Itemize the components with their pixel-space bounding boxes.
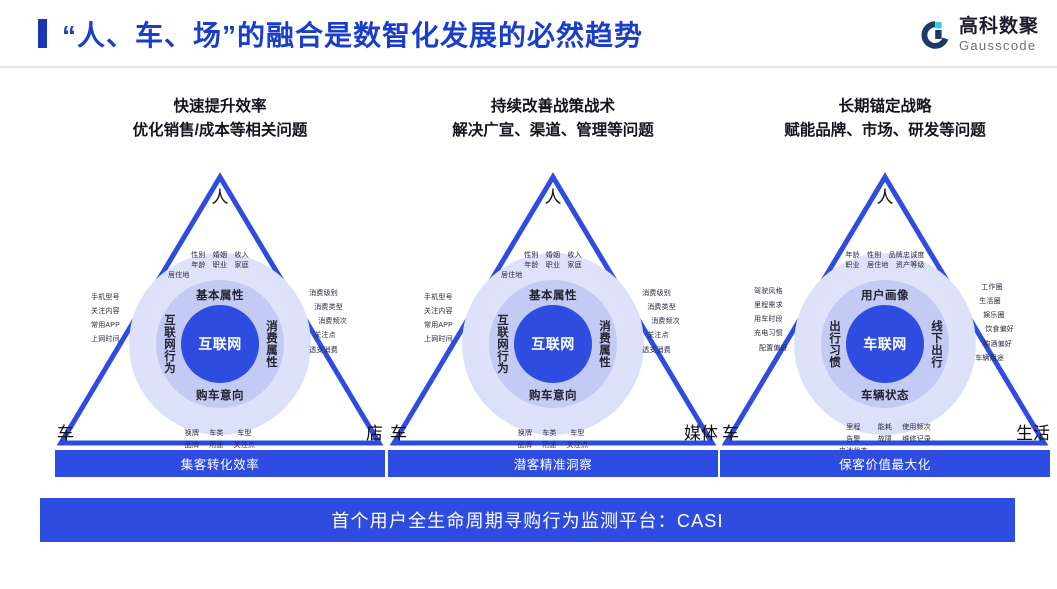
- outcome-bar-3: 保客价值最大化: [720, 450, 1050, 477]
- outer-top-line-1a: 性别 婚姻 收入: [160, 251, 280, 261]
- concentric-rings-1: 互联网 基本属性 购车意向 互联网行为 消费属性 性别 婚姻 收入 年龄 职业 …: [129, 253, 311, 435]
- vertex-top-1: 人: [212, 189, 229, 206]
- outer-top-line-1c: 居住地: [160, 271, 280, 281]
- outer-right-3e: 购酒偏好: [975, 340, 1012, 350]
- outer-bottom-2-g2: 车类 用途: [542, 429, 556, 451]
- outer-labels-top-2: 性别 婚姻 收入 年龄 职业 家庭 居住地: [493, 251, 613, 281]
- outer-right-2a: 消费级别: [642, 289, 671, 299]
- outer-bottom-3e: 使用频次: [902, 423, 931, 433]
- outer-labels-right-2: 消费级别 消费类型 消费频次 关注点 透支消费: [642, 289, 680, 356]
- ring-label-left-3: 出行习惯: [826, 320, 842, 368]
- outer-bottom-2e: 车型: [570, 429, 584, 439]
- column-heading-2-line2: 解决广宣、渠道、管理等问题: [388, 119, 718, 143]
- ring-label-top-2: 基本属性: [529, 287, 577, 303]
- outer-labels-right-3: 工作圈 生活圈 娱乐圈 饮食偏好 购酒偏好 车辆用途: [975, 283, 1014, 364]
- outer-labels-left-3: 驾驶风格 里程需求 用车时段 充电习惯 配置偏好: [754, 287, 788, 354]
- outer-left-2d: 上网时间: [424, 335, 453, 345]
- outer-right-3b: 生活圈: [975, 297, 1001, 307]
- vertex-left-2: 车: [390, 425, 407, 442]
- outer-right-3f: 车辆用途: [975, 354, 1004, 364]
- outer-right-1c: 消费频次: [309, 317, 347, 327]
- ring-label-right-3: 线下出行: [928, 320, 944, 368]
- outer-bottom-1a: 换牌: [185, 429, 199, 439]
- column-headings: 快速提升效率 优化销售/成本等相关问题 持续改善战策战术 解决广宣、渠道、管理等…: [0, 95, 1057, 153]
- outer-right-1b: 消费类型: [309, 303, 343, 313]
- outer-bottom-2a: 换牌: [518, 429, 532, 439]
- outer-labels-right-1: 消费级别 消费类型 消费频次 关注点 透支消费: [309, 289, 347, 356]
- core-label-1: 互联网: [181, 305, 259, 383]
- vertex-left-1: 车: [57, 425, 74, 442]
- outer-bottom-2-g3: 车型 关注点: [567, 429, 589, 451]
- ring-label-bottom-3: 车辆状态: [861, 387, 909, 403]
- outer-left-3a: 驾驶风格: [754, 287, 783, 297]
- triangle-panel-2: 人 车 媒体 互联网 基本属性 购车意向 互联网行为 消费属性 性别 婚姻 收入…: [388, 165, 718, 450]
- outer-labels-left-2: 手机型号 关注内容 常用APP 上网时间: [424, 293, 453, 346]
- ring-label-right-2: 消费属性: [596, 320, 612, 368]
- outer-right-2c: 消费频次: [642, 317, 680, 327]
- outer-left-3d: 充电习惯: [754, 329, 783, 339]
- column-heading-3-line1: 长期锚定战略: [720, 95, 1050, 119]
- outcome-bar-1: 集客转化效率: [55, 450, 385, 477]
- ring-label-left-1: 互联网行为: [161, 314, 177, 374]
- outer-right-3d: 饮食偏好: [975, 325, 1014, 335]
- footer-banner: 首个用户全生命周期寻购行为监测平台：CASI: [40, 498, 1015, 542]
- triangle-panel-3: 人 车 生活 车联网 用户画像 车辆状态 出行习惯 线下出行 年龄 性别 品牌忠…: [720, 165, 1050, 450]
- outer-left-1d: 上网时间: [91, 335, 120, 345]
- column-heading-1-line2: 优化销售/成本等相关问题: [55, 119, 385, 143]
- page-header: “人、车、场”的融合是数智化发展的必然趋势 高科数聚 Gausscode: [0, 0, 1057, 66]
- ring-label-top-1: 基本属性: [196, 287, 244, 303]
- outer-left-3c: 用车时段: [754, 315, 783, 325]
- outer-bottom-1-g2: 车类 用途: [209, 429, 223, 451]
- column-heading-1-line1: 快速提升效率: [55, 95, 385, 119]
- outcome-bar-2: 潜客精准洞察: [388, 450, 718, 477]
- brand-logo: 高科数聚 Gausscode: [918, 17, 1039, 52]
- vertex-top-3: 人: [877, 189, 894, 206]
- outer-labels-bottom-1: 换牌 品牌 车类 用途 车型 关注点: [185, 429, 255, 451]
- outer-left-2a: 手机型号: [424, 293, 453, 303]
- outer-left-3e: 配置偏好: [754, 344, 788, 354]
- outer-labels-top-1: 性别 婚姻 收入 年龄 职业 家庭 居住地: [160, 251, 280, 281]
- outer-right-3c: 娱乐圈: [975, 311, 1005, 321]
- outer-top-line-3a: 年龄 性别 品牌忠诚度: [818, 251, 952, 261]
- column-heading-2: 持续改善战策战术 解决广宣、渠道、管理等问题: [388, 95, 718, 143]
- vertex-right-1: 店: [366, 425, 383, 442]
- outer-right-1a: 消费级别: [309, 289, 338, 299]
- column-heading-2-line1: 持续改善战策战术: [388, 95, 718, 119]
- column-heading-3-line2: 赋能品牌、市场、研发等问题: [720, 119, 1050, 143]
- ring-label-bottom-1: 购车意向: [196, 387, 244, 403]
- outer-right-2b: 消费类型: [642, 303, 676, 313]
- outer-right-3a: 工作圈: [975, 283, 1003, 293]
- column-heading-3: 长期锚定战略 赋能品牌、市场、研发等问题: [720, 95, 1050, 143]
- outer-bottom-3c: 能耗: [878, 423, 892, 433]
- outer-right-1e: 透支消费: [309, 346, 338, 356]
- outer-left-1b: 关注内容: [91, 307, 120, 317]
- ring-label-bottom-2: 购车意向: [529, 387, 577, 403]
- outer-left-2c: 常用APP: [424, 321, 453, 331]
- outer-left-1a: 手机型号: [91, 293, 120, 303]
- outer-labels-bottom-2: 换牌 品牌 车类 用途 车型 关注点: [518, 429, 588, 451]
- outer-top-line-2a: 性别 婚姻 收入: [493, 251, 613, 261]
- logo-mark-icon: [918, 18, 952, 52]
- outer-left-2b: 关注内容: [424, 307, 453, 317]
- logo-text-en: Gausscode: [959, 39, 1039, 52]
- triangle-panel-1: 人 车 店 互联网 基本属性 购车意向 互联网行为 消费属性 性别 婚姻 收入 …: [55, 165, 385, 450]
- outer-bottom-2-g1: 换牌 品牌: [518, 429, 532, 451]
- ring-label-left-2: 互联网行为: [494, 314, 510, 374]
- core-label-3: 车联网: [846, 305, 924, 383]
- outer-bottom-3b: 告警: [846, 435, 860, 445]
- logo-text-cn: 高科数聚: [959, 17, 1039, 36]
- outer-top-line-3b: 职业 居住地 资产等级: [818, 261, 952, 271]
- outer-bottom-1e: 车型: [237, 429, 251, 439]
- outer-bottom-3a: 里程: [846, 423, 860, 433]
- header-divider: [0, 66, 1057, 68]
- outer-bottom-3d: 故障: [878, 435, 892, 445]
- outer-bottom-1c: 车类: [209, 429, 223, 439]
- outer-left-3b: 里程需求: [754, 301, 783, 311]
- page-title: “人、车、场”的融合是数智化发展的必然趋势: [62, 14, 643, 54]
- outer-labels-left-1: 手机型号 关注内容 常用APP 上网时间: [91, 293, 120, 346]
- vertex-left-3: 车: [722, 425, 739, 442]
- ring-label-top-3: 用户画像: [861, 287, 909, 303]
- concentric-rings-3: 车联网 用户画像 车辆状态 出行习惯 线下出行 年龄 性别 品牌忠诚度 职业 居…: [794, 253, 976, 435]
- outer-bottom-2c: 车类: [542, 429, 556, 439]
- core-label-2: 互联网: [514, 305, 592, 383]
- title-accent-bar: [38, 19, 47, 48]
- outer-bottom-1-g3: 车型 关注点: [234, 429, 256, 451]
- outer-right-2d: 关注点: [642, 331, 669, 341]
- vertex-top-2: 人: [545, 189, 562, 206]
- column-heading-1: 快速提升效率 优化销售/成本等相关问题: [55, 95, 385, 143]
- outer-left-1c: 常用APP: [91, 321, 120, 331]
- outer-bottom-1-g1: 换牌 品牌: [185, 429, 199, 451]
- outer-right-2e: 透支消费: [642, 346, 671, 356]
- outer-top-line-1b: 年龄 职业 家庭: [160, 261, 280, 271]
- vertex-right-3: 生活: [1016, 425, 1050, 442]
- ring-label-right-1: 消费属性: [263, 320, 279, 368]
- outer-bottom-3f: 维修记录: [902, 435, 931, 445]
- outer-labels-top-3: 年龄 性别 品牌忠诚度 职业 居住地 资产等级: [818, 251, 952, 271]
- concentric-rings-2: 互联网 基本属性 购车意向 互联网行为 消费属性 性别 婚姻 收入 年龄 职业 …: [462, 253, 644, 435]
- vertex-right-2: 媒体: [684, 425, 718, 442]
- outer-top-line-2b: 年龄 职业 家庭: [493, 261, 613, 271]
- outer-top-line-2c: 居住地: [493, 271, 613, 281]
- outer-right-1d: 关注点: [309, 331, 336, 341]
